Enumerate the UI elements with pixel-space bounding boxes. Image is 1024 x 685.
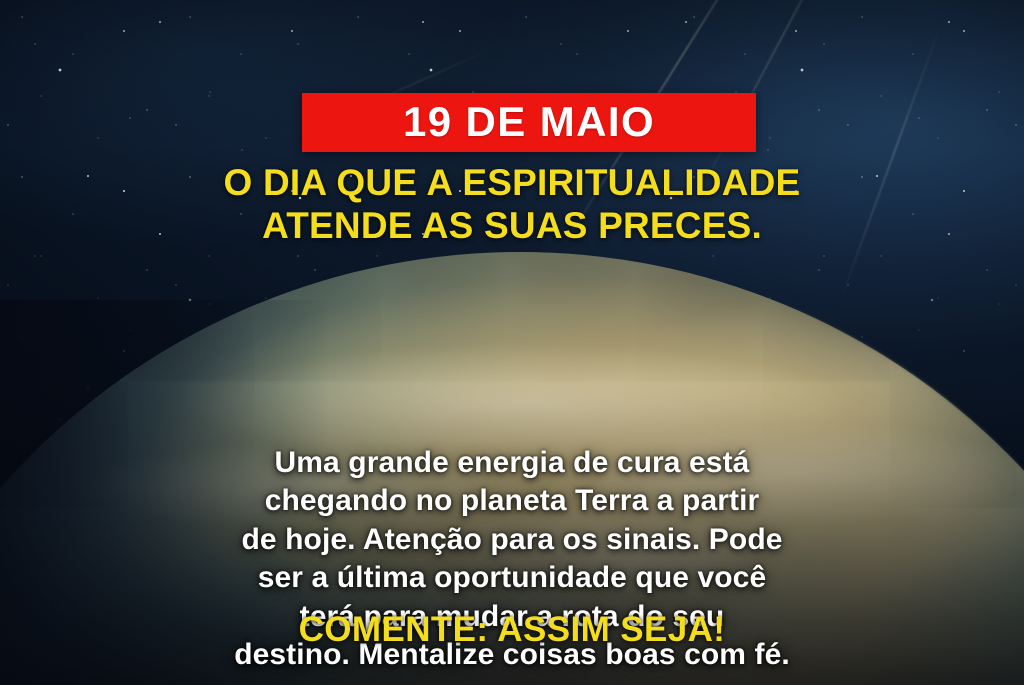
body-line-3: de hoje. Atenção para os sinais. Pode [40, 521, 984, 559]
call-to-action-text: COMENTE: ASSIM SEJA! [0, 611, 1024, 650]
body-line-2: chegando no planeta Terra a partir [40, 482, 984, 520]
date-banner-text: 19 DE MAIO [403, 101, 655, 143]
poster-canvas: 19 DE MAIO O DIA QUE A ESPIRITUALIDADE A… [0, 0, 1024, 685]
headline-line-1: O DIA QUE A ESPIRITUALIDADE [36, 162, 988, 205]
body-line-1: Uma grande energia de cura está [40, 444, 984, 482]
headline-line-2: ATENDE AS SUAS PRECES. [36, 205, 988, 248]
body-line-4: ser a última oportunidade que você [40, 559, 984, 597]
poster-content: 19 DE MAIO O DIA QUE A ESPIRITUALIDADE A… [0, 0, 1024, 685]
headline: O DIA QUE A ESPIRITUALIDADE ATENDE AS SU… [0, 162, 1024, 248]
date-banner: 19 DE MAIO [302, 93, 756, 152]
